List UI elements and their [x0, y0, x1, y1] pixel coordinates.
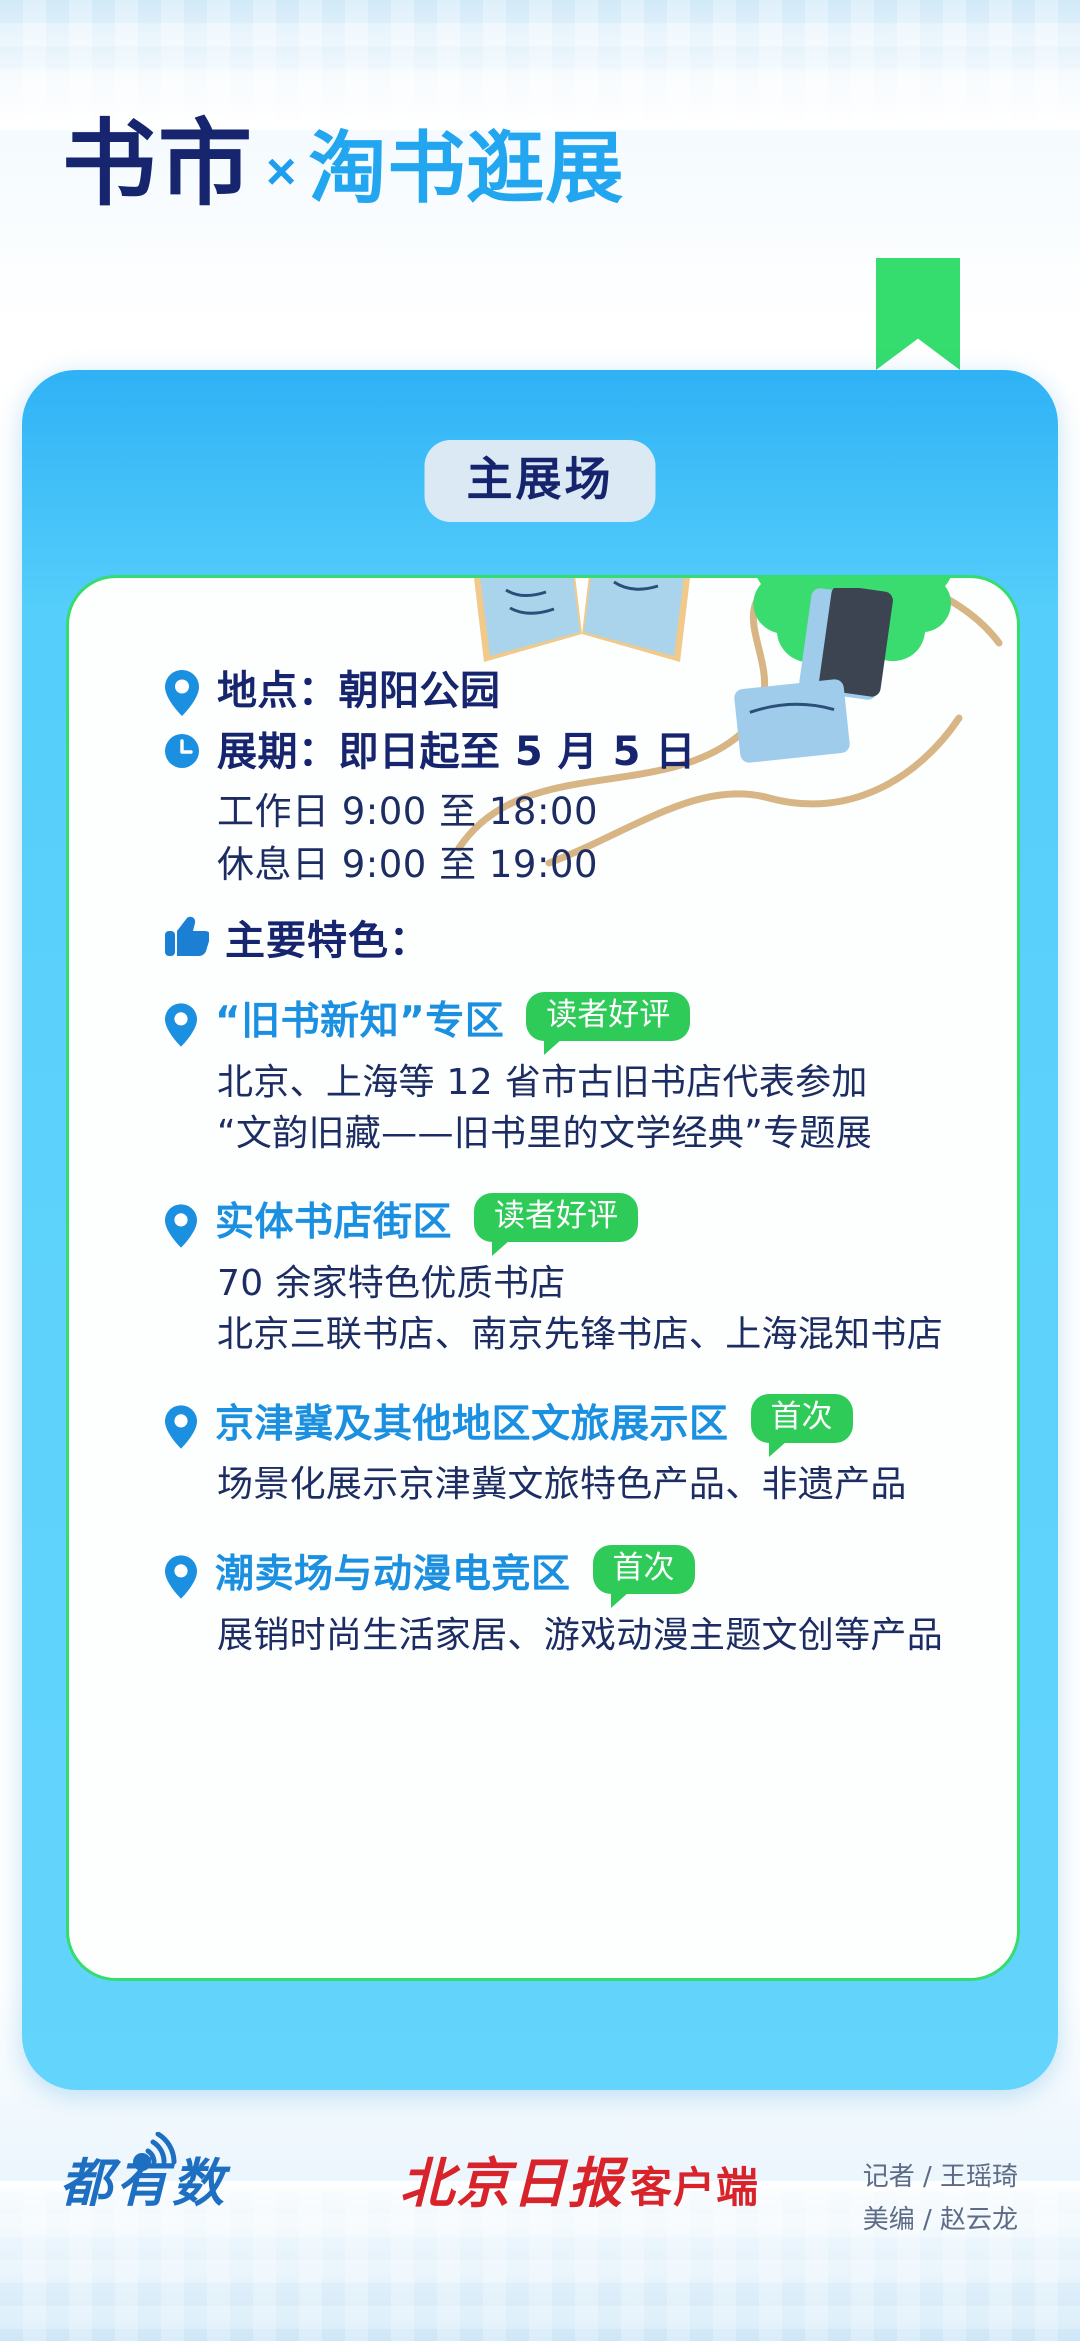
location-row: 地点：朝阳公园 — [165, 664, 696, 719]
feature-title-row: 京津冀及其他地区文旅展示区 首次 — [165, 1394, 985, 1455]
feature-item: “旧书新知”专区 读者好评 北京、上海等 12 省市古旧书店代表参加 “文韵旧藏… — [165, 992, 985, 1159]
feature-desc-line: 70 余家特色优质书店 — [217, 1258, 985, 1309]
footer: 都有数 北京日报 客户端 记者 / 王瑶琦 美编 / 赵云龙 — [0, 2130, 1080, 2280]
location-text: 地点：朝阳公园 — [217, 664, 501, 719]
stacked-books-illustration — [709, 588, 919, 778]
feature-item: 京津冀及其他地区文旅展示区 首次 场景化展示京津冀文旅特色产品、非遗产品 — [165, 1394, 985, 1510]
feature-title: “旧书新知”专区 — [215, 999, 504, 1046]
location-pin-icon — [165, 1204, 199, 1250]
location-pin-icon — [165, 1003, 199, 1049]
location-pin-icon — [165, 670, 199, 716]
title-part-shushi: 书市 — [62, 118, 254, 212]
feature-tag-badge: 读者好评 — [526, 992, 690, 1041]
credits-block: 记者 / 王瑶琦 美编 / 赵云龙 — [863, 2156, 1018, 2242]
feature-tag-badge: 首次 — [593, 1545, 695, 1594]
title-separator-x: × — [260, 146, 302, 212]
feature-desc-line: 场景化展示京津冀文旅特色产品、非遗产品 — [217, 1459, 985, 1510]
feature-desc-line: 北京三联书店、南京先锋书店、上海混知书店 — [217, 1309, 985, 1360]
feature-item: 潮卖场与动漫电竞区 首次 展销时尚生活家居、游戏动漫主题文创等产品 — [165, 1545, 985, 1661]
status-badge-main-venue: 主展场 — [425, 440, 656, 522]
feature-tag-badge: 读者好评 — [474, 1193, 638, 1242]
feature-title-row: 实体书店街区 读者好评 — [165, 1193, 985, 1254]
logo-beijing-daily: 北京日报 客户端 — [400, 2156, 759, 2210]
features-heading-row: 主要特色： — [165, 908, 985, 966]
feature-title: 实体书店街区 — [215, 1200, 452, 1247]
poster-root: 书市 × 淘书逛展 主展场 — [0, 0, 1080, 2341]
location-pin-icon — [165, 1405, 199, 1451]
feature-title-row: “旧书新知”专区 读者好评 — [165, 992, 985, 1053]
feature-desc-line: 北京、上海等 12 省市古旧书店代表参加 — [217, 1057, 985, 1108]
open-book-illustration — [464, 575, 704, 678]
feature-desc-line: “文韵旧藏——旧书里的文学经典”专题展 — [217, 1108, 985, 1159]
date-value: 即日起至 5 月 5 日 — [339, 729, 696, 775]
event-info-block: 地点：朝阳公园 展期：即日起至 5 月 5 日 工作日 9:00 至 18:00… — [165, 664, 696, 891]
credit-designer: 美编 / 赵云龙 — [863, 2199, 1018, 2242]
credit-reporter: 记者 / 王瑶琦 — [863, 2156, 1018, 2199]
thumbs-up-icon — [165, 914, 209, 961]
hours-weekend: 休息日 9:00 至 19:00 — [217, 839, 696, 892]
location-value: 朝阳公园 — [339, 668, 501, 714]
features-block: 主要特色： “旧书新知”专区 读者好评 北京、上海等 12 省市古旧书店代表参加… — [165, 908, 985, 1695]
location-pin-icon — [165, 1555, 199, 1601]
logo-app-text: 客户端 — [630, 2167, 759, 2209]
features-heading-label: 主要特色： — [225, 908, 430, 966]
feature-title: 京津冀及其他地区文旅展示区 — [215, 1402, 729, 1449]
green-bookmark-decoration — [876, 258, 960, 370]
title-part-taoshuguangzhan: 淘书逛展 — [308, 130, 624, 212]
feature-item: 实体书店街区 读者好评 70 余家特色优质书店 北京三联书店、南京先锋书店、上海… — [165, 1193, 985, 1360]
location-label: 地点： — [217, 668, 339, 714]
logo-brand-text: 北京日报 — [400, 2156, 624, 2210]
content-panel: 地点：朝阳公园 展期：即日起至 5 月 5 日 工作日 9:00 至 18:00… — [66, 575, 1020, 1981]
hours-weekday: 工作日 9:00 至 18:00 — [217, 786, 696, 839]
date-row: 展期：即日起至 5 月 5 日 — [165, 725, 696, 780]
feature-tag-badge: 首次 — [751, 1394, 853, 1443]
feature-title: 潮卖场与动漫电竞区 — [215, 1552, 571, 1599]
feature-title-row: 潮卖场与动漫电竞区 首次 — [165, 1545, 985, 1606]
wifi-signal-icon — [128, 2132, 182, 2179]
date-text: 展期：即日起至 5 月 5 日 — [217, 725, 696, 780]
page-title: 书市 × 淘书逛展 — [62, 118, 624, 212]
green-blob-decoration — [709, 575, 969, 688]
date-label: 展期： — [217, 729, 339, 775]
clock-icon — [165, 731, 199, 777]
feature-desc-line: 展销时尚生活家居、游戏动漫主题文创等产品 — [217, 1610, 985, 1661]
